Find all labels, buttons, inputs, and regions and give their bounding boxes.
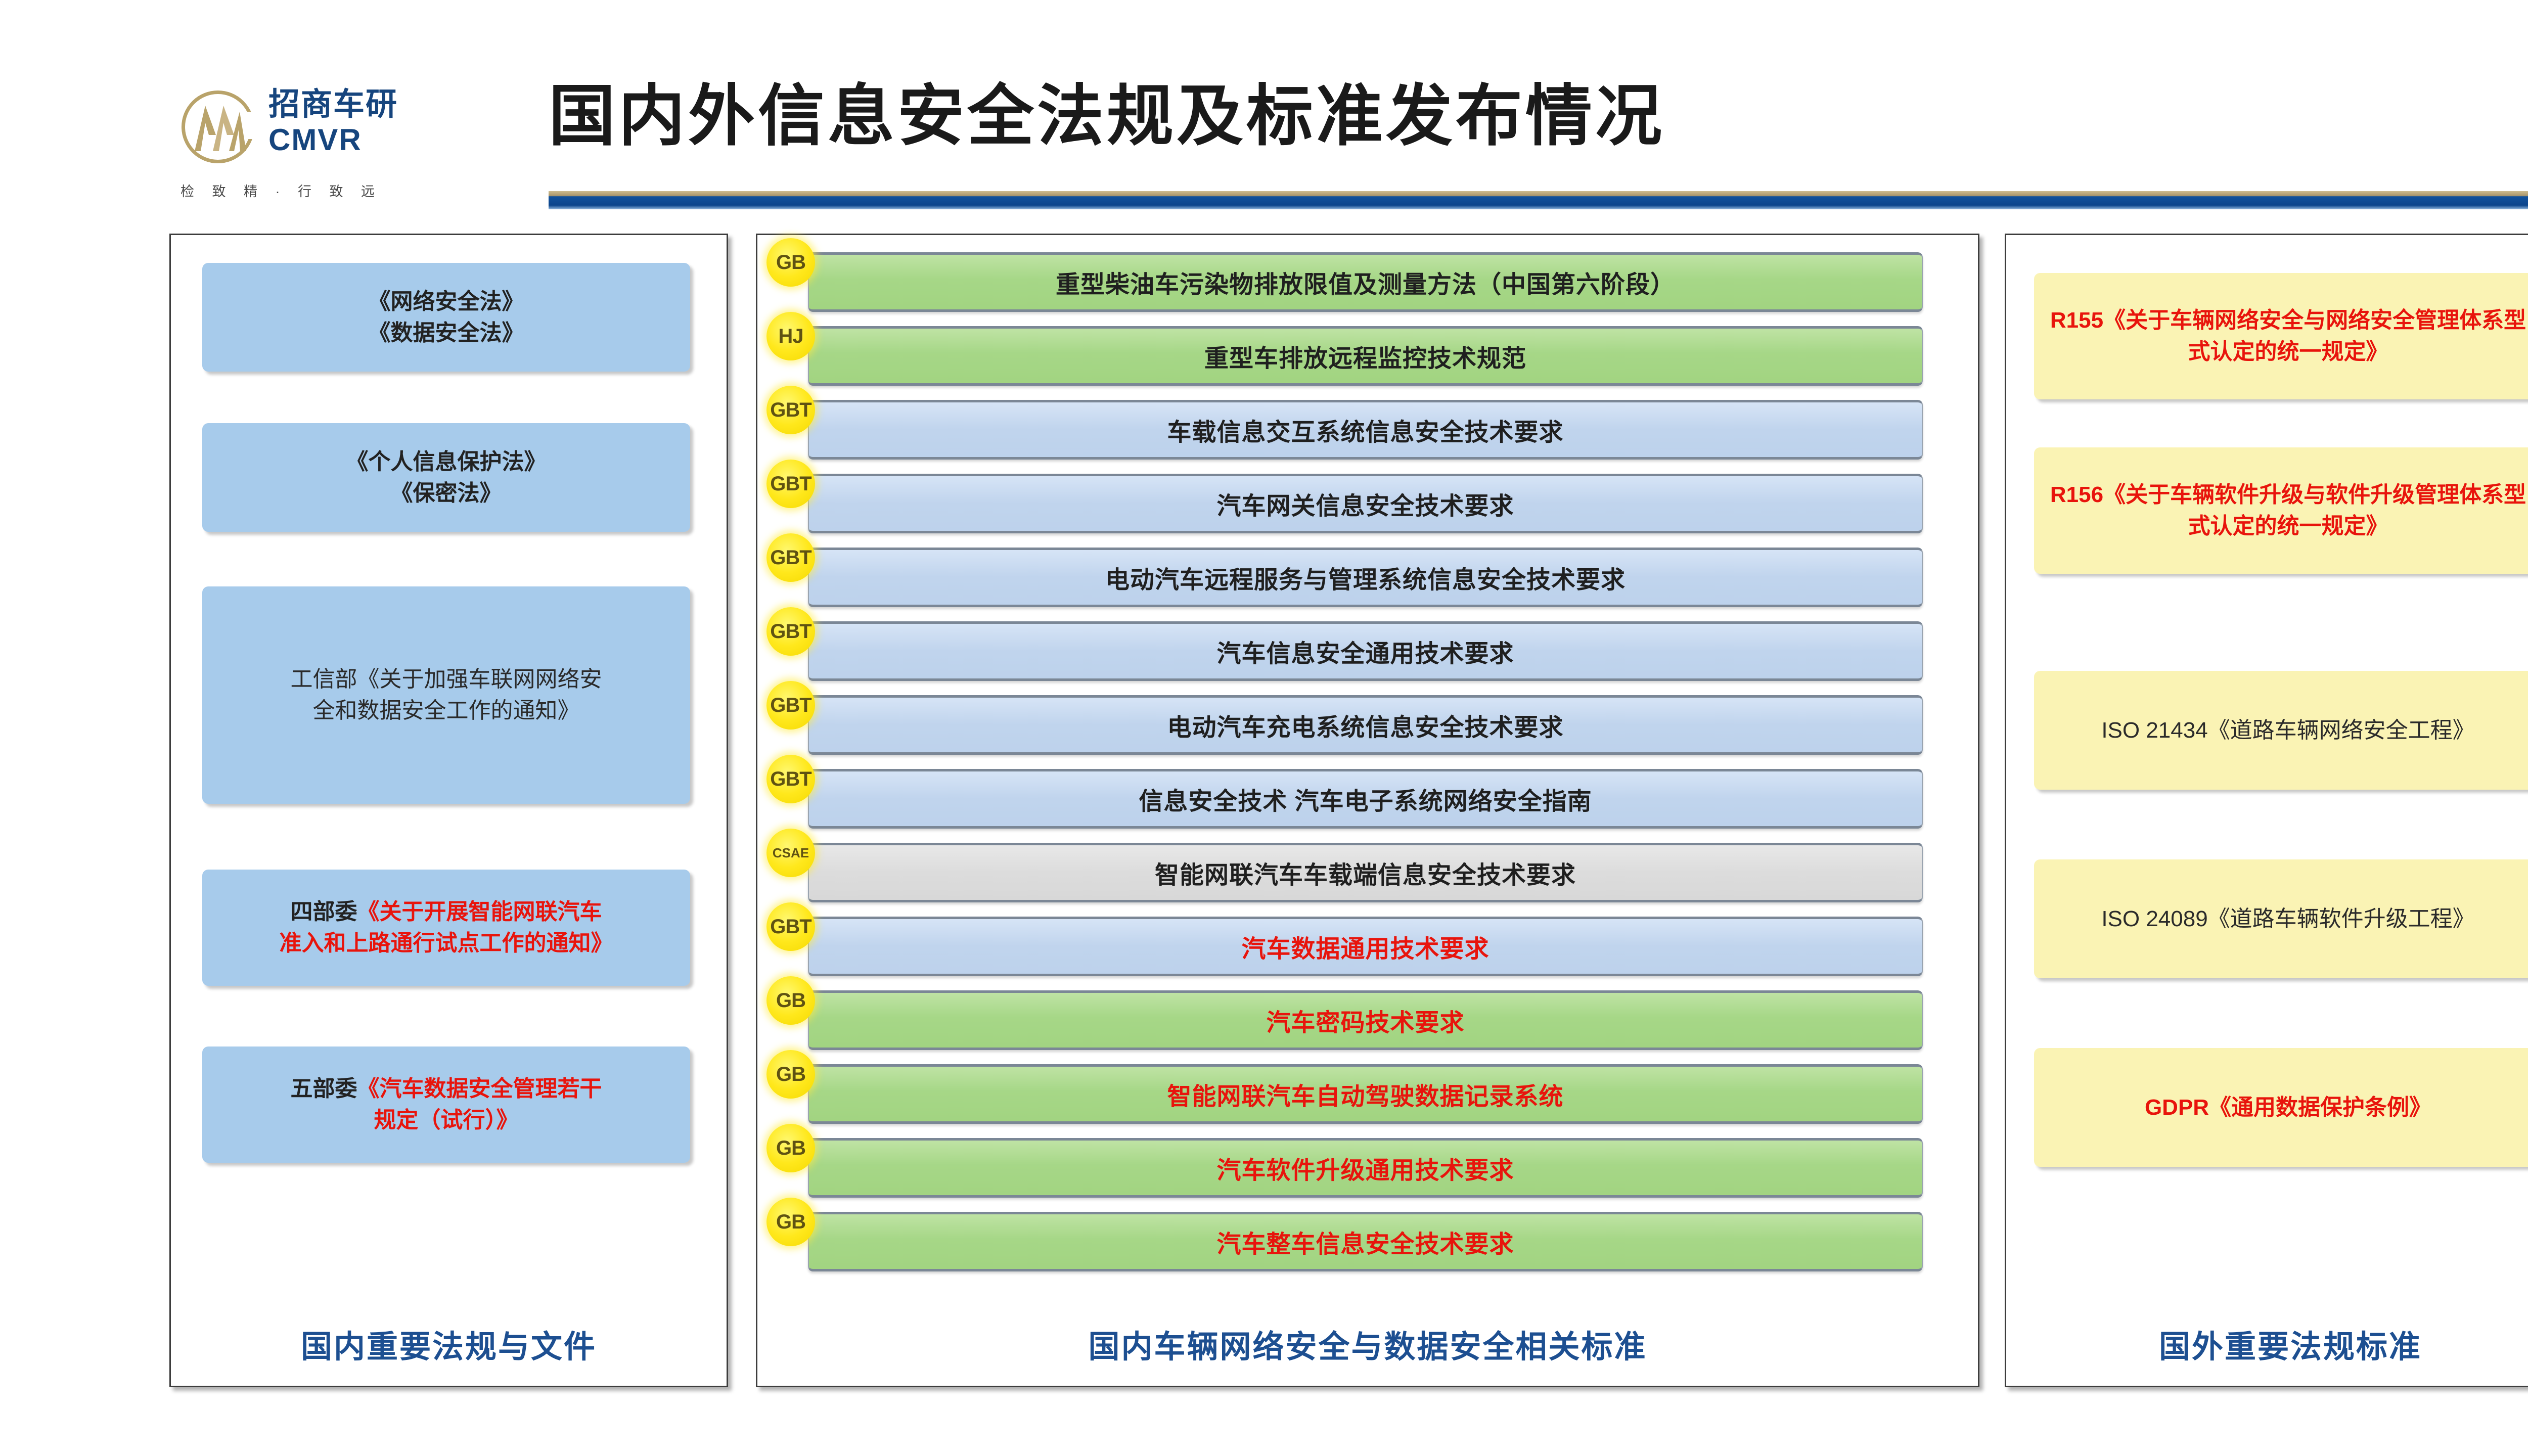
list-item[interactable]: R155《关于车辆网络安全与网络安全管理体系型式认定的统一规定》 (2034, 273, 2528, 399)
badge-label: GBT (770, 473, 811, 495)
brand-slogan: 检 致 精 · 行 致 远 (180, 180, 464, 200)
standard-bar[interactable]: 汽车网关信息安全技术要求 (808, 474, 1923, 533)
badge-label: GBT (770, 547, 811, 569)
list-item[interactable]: 《网络安全法》 《数据安全法》 (202, 263, 690, 372)
standard-bar[interactable]: 电动汽车远程服务与管理系统信息安全技术要求 (808, 548, 1923, 607)
brand-name-cn: 招商车研 (268, 86, 398, 123)
title-underline-bar (549, 191, 2528, 209)
card-text: R155《关于车辆网络安全与网络安全管理体系型式认定的统一规定》 (2045, 305, 2528, 368)
slide-title-wrap: 国内外信息安全法规及标准发布情况 (549, 76, 2520, 157)
badge-label: GB (776, 1137, 805, 1160)
list-item[interactable]: GDPR《通用数据保护条例》 (2034, 1048, 2528, 1167)
list-item[interactable]: 工信部《关于加强车联网网络安 全和数据安全工作的通知》 (202, 586, 690, 804)
standard-label: 重型车排放远程监控技术规范 (1204, 338, 1526, 374)
standard-label: 车载信息交互系统信息安全技术要求 (1167, 412, 1563, 447)
standard-label: 信息安全技术 汽车电子系统网络安全指南 (1139, 781, 1592, 816)
badge-label: GBT (770, 768, 811, 791)
standard-type-badge: GBT (766, 533, 815, 582)
standard-label: 重型柴油车污染物排放限值及测量方法（中国第六阶段） (1056, 264, 1675, 300)
panel-footer-label: 国内重要法规与文件 (171, 1321, 727, 1367)
card-text: GDPR《通用数据保护条例》 (2145, 1092, 2431, 1123)
card-text: 工信部《关于加强车联网网络安 全和数据安全工作的通知》 (291, 664, 602, 726)
badge-label: HJ (778, 325, 803, 348)
standard-bar[interactable]: 重型柴油车污染物排放限值及测量方法（中国第六阶段） (808, 252, 1923, 312)
standard-type-badge: GB (766, 1198, 815, 1246)
cmvr-emblem-icon (179, 88, 260, 169)
standard-bar[interactable]: 汽车整车信息安全技术要求 (808, 1212, 1923, 1271)
list-item[interactable]: ISO 21434《道路车辆网络安全工程》 (2034, 671, 2528, 790)
standard-bar[interactable]: 车载信息交互系统信息安全技术要求 (808, 400, 1923, 460)
panel-footer-label: 国外重要法规标准 (2006, 1321, 2528, 1367)
standard-type-badge: CSAE (766, 829, 815, 877)
card-text: ISO 21434《道路车辆网络安全工程》 (2101, 715, 2474, 746)
list-item[interactable]: 五部委《汽车数据安全管理若干 规定（试行）》 (202, 1046, 690, 1163)
badge-label: GB (776, 251, 805, 274)
standard-label: 汽车网关信息安全技术要求 (1216, 486, 1514, 521)
badge-label: GBT (770, 694, 811, 717)
mountain-glyph-icon (190, 102, 249, 156)
badge-label: CSAE (773, 845, 809, 861)
list-item[interactable]: 四部委《关于开展智能网联汽车 准入和上路通行试点工作的通知》 (202, 870, 690, 986)
standard-type-badge: GBT (766, 902, 815, 951)
standard-type-badge: GBT (766, 460, 815, 508)
badge-label: GBT (770, 620, 811, 643)
standard-type-badge: HJ (766, 312, 815, 360)
standard-bar[interactable]: 汽车数据通用技术要求 (808, 917, 1923, 976)
badge-label: GB (776, 1211, 805, 1234)
standard-type-badge: GB (766, 238, 815, 287)
standard-type-badge: GB (766, 1050, 815, 1099)
list-item[interactable]: 《个人信息保护法》 《保密法》 (202, 423, 690, 532)
card-text: 《网络安全法》 《数据安全法》 (369, 286, 524, 349)
standard-type-badge: GBT (766, 755, 815, 803)
slide-title: 国内外信息安全法规及标准发布情况 (549, 76, 2520, 157)
list-item[interactable]: ISO 24089《道路车辆软件升级工程》 (2034, 859, 2528, 978)
standard-type-badge: GBT (766, 681, 815, 730)
standard-label: 智能网联汽车自动驾驶数据记录系统 (1167, 1076, 1563, 1112)
standard-bar[interactable]: 汽车软件升级通用技术要求 (808, 1138, 1923, 1198)
list-item[interactable]: R156《关于车辆软件升级与软件升级管理体系型式认定的统一规定》 (2034, 447, 2528, 574)
standard-type-badge: GBT (766, 386, 815, 434)
brand-name-en: CMVR (268, 123, 398, 157)
card-text: 《个人信息保护法》 《保密法》 (346, 446, 547, 509)
panel-footer-label: 国内车辆网络安全与数据安全相关标准 (757, 1321, 1978, 1367)
badge-label: GBT (770, 399, 811, 422)
standard-type-badge: GB (766, 1124, 815, 1172)
card-text: 四部委《关于开展智能网联汽车 准入和上路通行试点工作的通知》 (280, 896, 613, 959)
domestic-standards-panel: 重型柴油车污染物排放限值及测量方法（中国第六阶段）GB重型车排放远程监控技术规范… (756, 234, 1979, 1387)
standard-label: 汽车整车信息安全技术要求 (1216, 1224, 1514, 1259)
standard-bar[interactable]: 重型车排放远程监控技术规范 (808, 326, 1923, 386)
standard-bar[interactable]: 智能网联汽车车载端信息安全技术要求 (808, 843, 1923, 902)
domestic-regulations-panel: 《网络安全法》 《数据安全法》 《个人信息保护法》 《保密法》 工信部《关于加强… (169, 234, 728, 1387)
foreign-regulations-panel: R155《关于车辆网络安全与网络安全管理体系型式认定的统一规定》 R156《关于… (2005, 234, 2528, 1387)
badge-label: GB (776, 1063, 805, 1086)
standard-bar[interactable]: 智能网联汽车自动驾驶数据记录系统 (808, 1064, 1923, 1124)
standard-label: 汽车软件升级通用技术要求 (1216, 1150, 1514, 1186)
standard-label: 电动汽车远程服务与管理系统信息安全技术要求 (1105, 560, 1626, 595)
badge-label: GBT (770, 916, 811, 938)
standard-bar[interactable]: 电动汽车充电系统信息安全技术要求 (808, 695, 1923, 755)
standard-label: 电动汽车充电系统信息安全技术要求 (1167, 707, 1563, 743)
brand-logo: 招商车研 CMVR 检 致 精 · 行 致 远 (179, 83, 528, 215)
slide-header: 招商车研 CMVR 检 致 精 · 行 致 远 国内外信息安全法规及标准发布情况 (0, 0, 2528, 217)
standard-bar[interactable]: 信息安全技术 汽车电子系统网络安全指南 (808, 769, 1923, 829)
standard-bar[interactable]: 汽车信息安全通用技术要求 (808, 621, 1923, 681)
card-text: R156《关于车辆软件升级与软件升级管理体系型式认定的统一规定》 (2045, 479, 2528, 542)
standard-label: 智能网联汽车车载端信息安全技术要求 (1155, 855, 1576, 890)
standard-type-badge: GB (766, 976, 815, 1025)
card-text: ISO 24089《道路车辆软件升级工程》 (2101, 903, 2474, 935)
standard-label: 汽车密码技术要求 (1266, 1003, 1464, 1038)
standard-bar[interactable]: 汽车密码技术要求 (808, 990, 1923, 1050)
badge-label: GB (776, 989, 805, 1012)
card-text: 五部委《汽车数据安全管理若干 规定（试行）》 (291, 1073, 602, 1136)
standard-label: 汽车数据通用技术要求 (1241, 929, 1489, 964)
standard-label: 汽车信息安全通用技术要求 (1216, 633, 1514, 669)
standard-type-badge: GBT (766, 607, 815, 656)
